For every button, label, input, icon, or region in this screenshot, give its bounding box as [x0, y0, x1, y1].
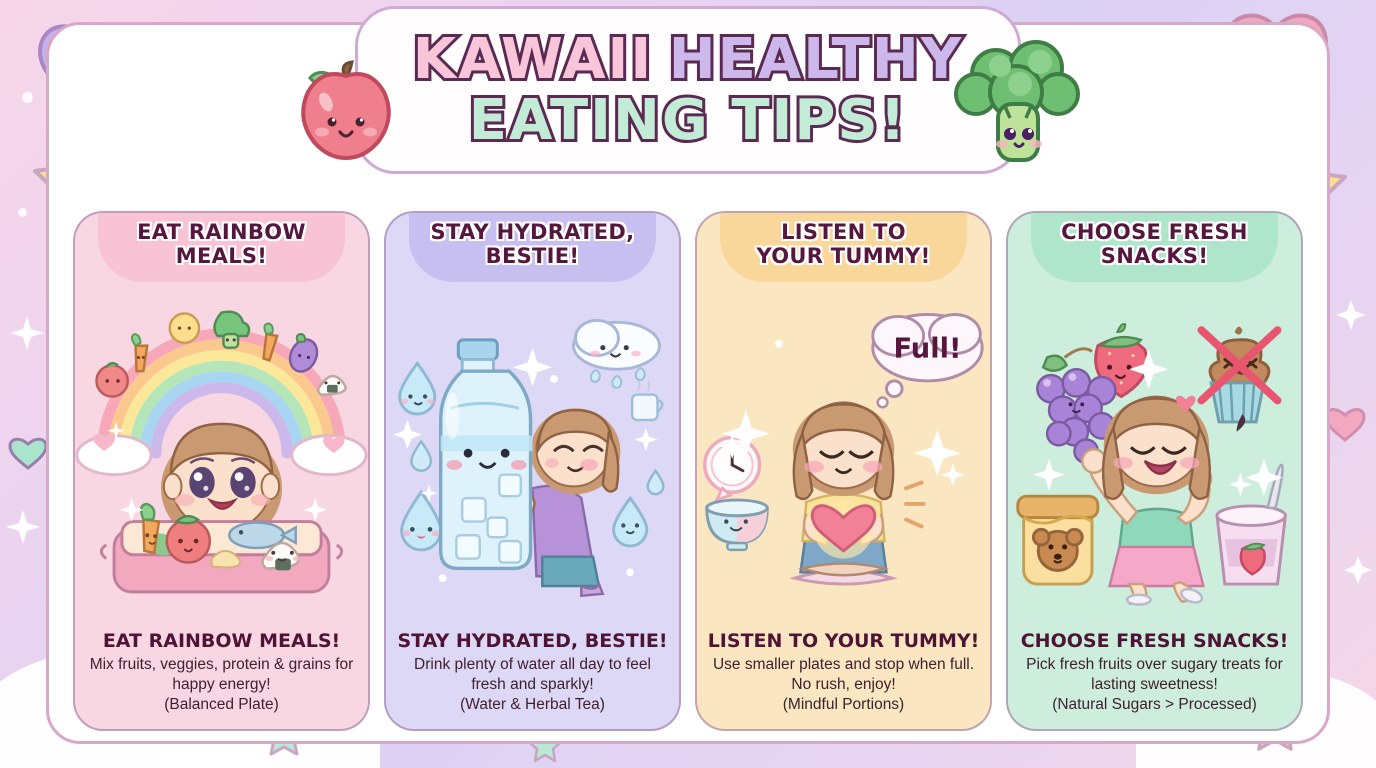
- card-caption-3: LISTEN TO YOUR TUMMY! Use smaller plates…: [697, 624, 990, 729]
- illustration-girl-with-bento-box: [75, 282, 368, 624]
- thought-bubble-icon: Full!: [873, 315, 982, 408]
- caption-title-4: CHOOSE FRESH SNACKS!: [1018, 630, 1291, 653]
- title-banner: KAWAII HEALTHY EATING TIPS!: [355, 6, 1021, 174]
- title-word-eating-tips: EATING TIPS!: [469, 94, 908, 148]
- card-header-line2-2: BESTIE!: [486, 244, 580, 268]
- yogurt-cup-icon: [1217, 465, 1285, 584]
- dot-white-3-icon: [22, 92, 33, 103]
- sparkle-white-5-icon: [1344, 556, 1372, 584]
- water-droplet-2-icon: [402, 492, 441, 550]
- heart-mint-icon: [6, 430, 50, 474]
- card-header-4: CHOOSE FRESH SNACKS!: [1031, 211, 1277, 282]
- onigiri-icon: [318, 376, 345, 395]
- illustration-girl-hugging-water-bottle: [386, 282, 679, 624]
- tomato-icon: [96, 363, 127, 396]
- honey-jar-bear-icon: [1018, 496, 1098, 584]
- card-header-line1-1: EAT RAINBOW: [137, 220, 306, 244]
- mug-icon: [632, 381, 662, 420]
- illustration-girl-meditating: Full!: [697, 282, 990, 624]
- caption-note-1: (Balanced Plate): [85, 695, 358, 715]
- cupcake-crossed-out-icon: [1201, 327, 1277, 422]
- caption-body-4: Pick fresh fruits over sugary treats for…: [1018, 655, 1291, 695]
- rain-cloud-icon: [574, 320, 660, 387]
- tip-card-stay-hydrated-bestie[interactable]: STAY HYDRATED, BESTIE!: [384, 211, 681, 731]
- card-header-line2-3: YOUR TUMMY!: [756, 244, 930, 268]
- apple-mascot-icon: [300, 60, 392, 160]
- caption-body-2: Drink plenty of water all day to feel fr…: [396, 655, 669, 695]
- tip-card-choose-fresh-snacks[interactable]: CHOOSE FRESH SNACKS!: [1006, 211, 1303, 731]
- tips-card-row: EAT RAINBOW MEALS!: [73, 211, 1303, 731]
- card-caption-2: STAY HYDRATED, BESTIE! Drink plenty of w…: [386, 624, 679, 729]
- water-droplet-3-icon: [614, 498, 647, 546]
- caption-body-3: Use smaller plates and stop when full. N…: [707, 655, 980, 695]
- title-word-kawaii: KAWAII: [413, 33, 653, 87]
- caption-title-3: LISTEN TO YOUR TUMMY!: [707, 630, 980, 653]
- orange-icon: [170, 314, 199, 343]
- caption-body-1: Mix fruits, veggies, protein & grains fo…: [85, 655, 358, 695]
- caption-title-2: STAY HYDRATED, BESTIE!: [396, 630, 669, 653]
- card-header-2: STAY HYDRATED, BESTIE!: [409, 211, 655, 282]
- sparkle-white-3-icon: [6, 510, 40, 544]
- card-header-title-1: EAT RAINBOW MEALS!: [106, 221, 336, 268]
- bento-carrot: [141, 504, 159, 553]
- poster-title: KAWAII HEALTHY EATING TIPS!: [413, 32, 964, 148]
- card-header-line2-1: MEALS!: [176, 244, 267, 268]
- card-header-title-3: LISTEN TO YOUR TUMMY!: [728, 221, 958, 268]
- illustration-girl-holding-grapes: [1008, 282, 1301, 624]
- water-droplet-icon: [400, 363, 435, 414]
- card-header-3: LISTEN TO YOUR TUMMY!: [720, 211, 966, 282]
- card-header-line1-3: LISTEN TO: [781, 220, 906, 244]
- card-caption-1: EAT RAINBOW MEALS! Mix fruits, veggies, …: [75, 624, 368, 729]
- caption-note-4: (Natural Sugars > Processed): [1018, 695, 1291, 715]
- card-header-line1-2: STAY HYDRATED,: [431, 220, 635, 244]
- girl-character-3: [793, 402, 895, 584]
- caption-note-2: (Water & Herbal Tea): [396, 695, 669, 715]
- card-header-title-2: STAY HYDRATED, BESTIE!: [417, 221, 647, 268]
- sparkle-white-2-icon: [10, 316, 44, 350]
- card-header-1: EAT RAINBOW MEALS!: [98, 211, 344, 282]
- caption-note-3: (Mindful Portions): [707, 695, 980, 715]
- broccoli-mascot-icon: [952, 38, 1084, 174]
- card-header-line1-4: CHOOSE FRESH: [1061, 220, 1248, 244]
- caption-title-1: EAT RAINBOW MEALS!: [85, 630, 358, 653]
- tip-card-listen-to-your-tummy[interactable]: LISTEN TO YOUR TUMMY! Full!: [695, 211, 992, 731]
- water-bottle-icon: [441, 340, 533, 569]
- tip-card-eat-rainbow-meals[interactable]: EAT RAINBOW MEALS!: [73, 211, 370, 731]
- card-header-line2-4: SNACKS!: [1101, 244, 1208, 268]
- card-caption-4: CHOOSE FRESH SNACKS! Pick fresh fruits o…: [1008, 624, 1301, 729]
- card-header-title-4: CHOOSE FRESH SNACKS!: [1039, 221, 1269, 268]
- sparkle-white-4-icon: [1336, 300, 1366, 330]
- speech-bubble-text: Full!: [894, 334, 962, 365]
- title-word-healthy: HEALTHY: [669, 33, 964, 87]
- dot-white-4-icon: [18, 208, 27, 217]
- bowl-icon: [707, 500, 768, 550]
